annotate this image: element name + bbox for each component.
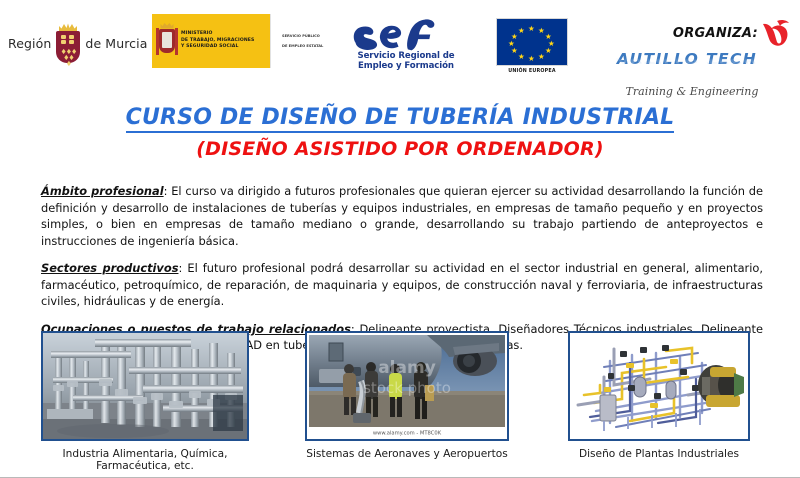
organizer-name-reflection: AUTILLO TECH <box>600 57 790 65</box>
section-sectores-productivos: Sectores productivos: El futuro profesio… <box>41 260 763 309</box>
region-de-murcia-logo: Región ♦♦♦♦♦♦ de Murcia <box>8 22 147 64</box>
ministerio-line3: Y SEGURIDAD SOCIAL <box>181 44 238 49</box>
image-frame <box>41 331 249 441</box>
region-label-before: Región <box>8 36 51 51</box>
ministerio-text: MINISTERIO DE TRABAJO, MIGRACIONES Y SEG… <box>181 31 254 50</box>
eu-caption: UNIÓN EUROPEA <box>492 69 572 74</box>
sepe-text: SERVICIO PÚBLICO DE EMPLEO ESTATAL <box>282 34 323 49</box>
organizer-label-row: ORGANIZA: <box>600 18 790 48</box>
sef-wordmark-icon <box>350 18 462 51</box>
card-caption: Sistemas de Aeronaves y Aeropuertos <box>305 448 509 460</box>
institutional-logo-bar: Región ♦♦♦♦♦♦ de Murcia <box>0 0 800 100</box>
photo-credit: www.alamy.com - MT8C0K <box>373 431 442 437</box>
sepe-block: SERVICIO PÚBLICO DE EMPLEO ESTATAL <box>270 14 334 68</box>
eu-flag-icon: ★ ★ ★ ★ ★ ★ ★ ★ ★ ★ ★ ★ <box>496 18 568 66</box>
aircraft-refuelling-photo: alamy stock photo www.alamy.com - MT8C0K <box>309 335 505 437</box>
autillo-tech-logo-icon <box>760 18 790 48</box>
murcia-shield-crowns: ♦♦♦♦♦♦ <box>57 49 79 67</box>
sepe-line2: DE EMPLEO ESTATAL <box>282 44 323 49</box>
image-frame: alamy stock photo www.alamy.com - MT8C0K <box>305 331 509 441</box>
gallery-card-plant-design: Diseño de Plantas Industriales <box>568 331 750 460</box>
course-title: CURSO DE DISEÑO DE TUBERÍA INDUSTRIAL <box>0 105 800 130</box>
cad-plant-model-render <box>570 333 748 439</box>
gallery-card-food-industry: Industria Alimentaria, Química, Farmacéu… <box>41 331 249 472</box>
european-union-logo: ★ ★ ★ ★ ★ ★ ★ ★ ★ ★ ★ ★ UNIÓN EUROPEA <box>492 18 572 74</box>
organizer-block: ORGANIZA: AUTILLO TECH AUTILLO TECH Trai… <box>600 18 790 98</box>
course-subtitle: (DISEÑO ASISTIDO POR ORDENADOR) <box>0 138 800 160</box>
gallery-card-aircraft-systems: alamy stock photo www.alamy.com - MT8C0K… <box>305 331 509 460</box>
organiza-label: ORGANIZA: <box>673 26 758 41</box>
sef-line2: Empleo y Formación <box>345 61 467 71</box>
murcia-shield-body: ♦♦♦♦♦♦ <box>56 31 80 63</box>
spain-coat-of-arms-icon <box>156 21 178 61</box>
organizer-tagline: Training & Engineering <box>600 85 790 98</box>
ministerio-line1: MINISTERIO <box>181 31 213 36</box>
section-ambito-profesional: Ámbito profesional: El curso va dirigido… <box>41 183 763 249</box>
ministerio-trabajo-logo: MINISTERIO DE TRABAJO, MIGRACIONES Y SEG… <box>152 14 334 68</box>
card-caption: Industria Alimentaria, Química, Farmacéu… <box>41 448 249 472</box>
image-gallery: Industria Alimentaria, Química, Farmacéu… <box>0 331 800 476</box>
sef-line1: Servicio Regional de <box>345 51 467 61</box>
course-title-text: CURSO DE DISEÑO DE TUBERÍA INDUSTRIAL <box>126 105 675 133</box>
section-lead: Sectores productivos <box>41 261 178 275</box>
stainless-steel-piping-photo <box>43 333 247 439</box>
card-caption: Diseño de Plantas Industriales <box>568 448 750 460</box>
image-frame <box>568 331 750 441</box>
sepe-line1: SERVICIO PÚBLICO <box>282 34 323 39</box>
region-label-after: de Murcia <box>85 36 147 51</box>
murcia-shield-icon: ♦♦♦♦♦♦ <box>55 22 81 64</box>
section-lead: Ámbito profesional <box>41 184 164 198</box>
svg-text:alamy: alamy <box>378 358 436 378</box>
sef-logo: Servicio Regional de Empleo y Formación <box>345 18 467 71</box>
ministerio-yellow-block: MINISTERIO DE TRABAJO, MIGRACIONES Y SEG… <box>152 14 270 68</box>
course-flyer-page: Región ♦♦♦♦♦♦ de Murcia <box>0 0 800 478</box>
ministerio-line2: DE TRABAJO, MIGRACIONES <box>181 38 254 43</box>
svg-text:stock photo: stock photo <box>363 379 451 397</box>
